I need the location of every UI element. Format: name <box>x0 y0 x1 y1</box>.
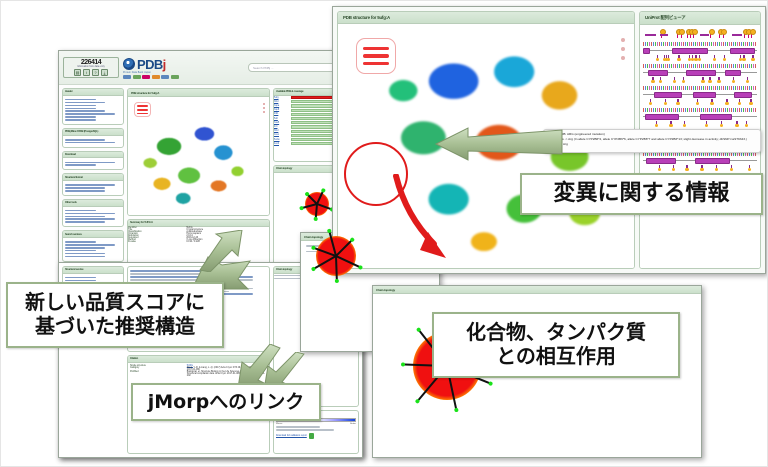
help-icon[interactable]: ? <box>92 69 99 76</box>
sidebar-section-title-download: Download <box>63 152 123 159</box>
sidebar-section-body-download <box>63 158 123 169</box>
seq-track-2[interactable] <box>643 64 757 82</box>
sequence-letters <box>643 108 757 112</box>
variant-ticks <box>643 121 757 126</box>
sidebar-item-search-pdbj[interactable] <box>65 244 115 246</box>
chip-red-icon <box>142 75 150 79</box>
entry-counter-caption: Information from data entry <box>67 66 115 68</box>
sidebar-item-yorodumi[interactable] <box>65 250 96 252</box>
interaction-hub-small <box>300 187 334 221</box>
structure-canvas[interactable] <box>128 97 269 215</box>
legend-note-2 <box>276 429 334 431</box>
main-window-topbar: 226414 Information from data entry ▤ i ?… <box>59 51 362 85</box>
variant-ticks <box>643 77 757 82</box>
sidebar-section-title: Header <box>63 89 123 96</box>
sidebar-section-title-search: Search services <box>63 231 123 238</box>
sidebar-section-format: Structural format <box>62 173 124 196</box>
domain-bar <box>643 158 757 164</box>
sidebar-item-links[interactable] <box>65 116 96 118</box>
coverage-id[interactable]: 3qu8 <box>274 109 289 111</box>
pdbj-seal-icon <box>123 58 135 70</box>
coverage-id[interactable]: 5ufg <box>274 97 289 99</box>
variant-ticks <box>643 55 757 60</box>
entry-counter: 226414 Information from data entry ▤ i ?… <box>63 57 119 78</box>
sidebar-section-title-other: Other tools <box>63 200 123 207</box>
more-vertical-icon[interactable] <box>621 38 625 60</box>
sidebar-item-top-page[interactable] <box>65 99 96 101</box>
chip-green-icon <box>133 75 141 79</box>
sidebar-item-mmcif-dict[interactable] <box>65 184 115 186</box>
variant-lollipop-row <box>643 28 757 38</box>
variant-tooltip: 12: PDB: ARG (engineered mutation) 28: L… <box>543 129 761 153</box>
sidebar-section-body-other <box>63 207 123 227</box>
domain-bar <box>643 114 757 120</box>
sidebar-item-mmcif-compat[interactable] <box>65 213 115 215</box>
score-label-better: Better <box>350 423 356 425</box>
chip-green-2-icon <box>171 75 179 79</box>
brand-subtitle: Protein Data Bank Japan <box>123 72 179 74</box>
domain-bar <box>643 70 757 76</box>
sidebar-item-emdb[interactable] <box>65 210 96 212</box>
big-structure-title: PDB structure for 5ufg:A <box>338 12 634 24</box>
sidebar-item-contact[interactable] <box>65 110 105 112</box>
sidebar-item-download-2[interactable] <box>65 164 96 166</box>
hamburger-menu-icon[interactable] <box>134 102 151 117</box>
hamburger-menu-icon[interactable] <box>356 38 396 74</box>
score-label-worse: Worse <box>276 423 282 425</box>
sidebar-item-component-archive[interactable] <box>65 218 115 220</box>
sidebar-section-title-mine: PDBj Mine 2 RDB (PostgreSQL) <box>63 129 123 136</box>
tooltip-text: 28: Lys -> Arg (In allele CYP2B6*4, alle… <box>554 138 747 142</box>
chip-orange-icon <box>152 75 160 79</box>
info-icon[interactable]: i <box>83 69 90 76</box>
protein-ribbon-render <box>136 111 254 215</box>
structure-viewer-panel: PDB structure for 5ufg:A <box>127 88 270 216</box>
sidebar-item-format-conversion[interactable] <box>65 187 105 189</box>
seq-track-4[interactable] <box>643 108 757 126</box>
callout-quality-text: 新しい品質スコアに基づいた推奨構造 <box>25 291 205 338</box>
interaction-hub-graphic-1 <box>308 228 364 284</box>
sidebar-item-faq[interactable] <box>65 108 96 110</box>
variant-ticks <box>643 99 757 104</box>
sidebar-item-keyword-search[interactable] <box>65 139 105 141</box>
more-vertical-icon[interactable] <box>263 103 265 113</box>
sidebar-item-statistics[interactable] <box>65 102 105 104</box>
red-arrow-annotation <box>390 174 460 264</box>
download-report-row[interactable]: Download full validation report <box>276 433 356 439</box>
callout-jmorp-link: jMorpへのリンク <box>131 383 321 421</box>
sidebar-section-other: Other tools <box>62 199 124 227</box>
sequence-letters <box>643 64 757 68</box>
citation-key: PubMed <box>130 371 185 377</box>
summary-key: R-value <box>128 241 184 243</box>
coverage-id[interactable]: 3ibd <box>274 101 289 103</box>
summary-panel-title: Summary for 5UFG:A <box>128 220 269 227</box>
seq-track-6[interactable] <box>643 152 757 170</box>
legend-note-1 <box>276 426 320 428</box>
uniprot-viewer-title: UniProt 配列ビューア <box>640 12 760 25</box>
chip-blue-2-icon <box>161 75 169 79</box>
download-report-label[interactable]: Download full validation report <box>276 435 307 437</box>
brand-suffix: j <box>163 57 166 72</box>
sidebar-item-em-navigator[interactable] <box>65 256 105 258</box>
sidebar-item-omokage[interactable] <box>65 253 105 255</box>
callout-jmorp-text: jMorpへのリンク <box>148 391 304 413</box>
callout-interaction-text: 化合物、タンパク質との相互作用 <box>466 321 646 368</box>
sidebar-item-latest-versions[interactable] <box>65 221 105 223</box>
entry-counter-value: 226414 <box>67 59 115 66</box>
sidebar-item-mmcif-tools[interactable] <box>65 190 105 192</box>
variant-ticks <box>643 165 757 170</box>
brand-name: PDB <box>137 57 163 72</box>
green-arrow-to-mutation-callout <box>432 120 564 166</box>
domain-bar <box>643 92 757 98</box>
callout-quality-score: 新しい品質スコアに基づいた推奨構造 <box>6 282 224 348</box>
sidebar-item-pdbj-3[interactable] <box>65 277 96 279</box>
chain-topology-large-title: Chain topology <box>373 286 701 294</box>
coverage-id[interactable]: 4i91 <box>274 113 289 115</box>
seq-track-overview[interactable] <box>643 28 757 38</box>
sidebar-section-header: Header <box>62 88 124 125</box>
sidebar-item-download-archive[interactable] <box>65 162 115 164</box>
pdbj-logo[interactable]: PDBj Protein Data Bank Japan <box>123 57 179 79</box>
download-icon[interactable] <box>309 433 314 439</box>
sequence-letters <box>643 42 757 46</box>
green-arrow-to-available-pdb <box>198 230 264 272</box>
slide-canvas: 226414 Information from data entry ▤ i ?… <box>0 0 768 467</box>
coverage-id[interactable]: 4rrt <box>274 126 289 128</box>
sidebar-section-search-services: Search services <box>62 230 124 261</box>
sidebar-item-settings[interactable] <box>65 119 96 121</box>
sidebar-section-title-structural-2: Structural service <box>63 267 123 274</box>
callout-interaction: 化合物、タンパク質との相互作用 <box>432 312 680 378</box>
callout-mutation-text: 変異に関する情報 <box>553 181 729 207</box>
sidebar-section-title-format: Structural format <box>63 174 123 181</box>
coverage-id[interactable]: 3ibd <box>274 130 289 132</box>
chip-blue-icon <box>123 75 131 79</box>
brand-chip-row <box>123 75 179 79</box>
sidebar-section-body-mine <box>63 136 123 147</box>
coverage-id[interactable]: 1suo <box>274 134 289 136</box>
sidebar-item-sequence-search[interactable] <box>65 142 115 144</box>
sidebar-item-structure-navigator[interactable] <box>65 247 105 249</box>
sidebar-item-policies[interactable] <box>65 113 115 115</box>
download-icon[interactable]: ⤓ <box>101 69 108 76</box>
sidebar-section-body <box>63 96 123 124</box>
sidebar-item-sequence[interactable] <box>65 241 96 243</box>
coverage-id[interactable]: 5uft <box>274 118 289 120</box>
structure-viewer-title: PDB structure for 5ufg:A <box>128 89 269 97</box>
callout-mutation-info: 変異に関する情報 <box>520 173 763 215</box>
sidebar-section-mine: PDBj Mine 2 RDB (PostgreSQL) <box>62 128 124 148</box>
sequence-letters <box>643 152 757 156</box>
sidebar-section-body-search <box>63 238 123 261</box>
coverage-id[interactable]: 3qoa <box>274 105 289 107</box>
counter-icon-row: ▤ i ? ⤓ <box>67 69 115 76</box>
score-gradient-labels: Worse Better <box>276 423 356 425</box>
sidebar-item-help[interactable] <box>65 105 96 107</box>
coverage-id[interactable]: 4xo6 <box>274 143 289 145</box>
sidebar-item-groups[interactable] <box>65 216 105 218</box>
tooltip-row: Lys -> Arg <box>548 143 756 147</box>
tooltip-row: 28: Lys -> Arg (In allele CYP2B6*4, alle… <box>548 138 756 142</box>
sequence-letters <box>643 86 757 90</box>
coverage-id[interactable]: 3ua5 <box>274 122 289 124</box>
coverage-id[interactable]: 5u4w <box>274 139 289 141</box>
domain-bar <box>643 48 757 54</box>
sidebar-section-download: Download <box>62 151 124 171</box>
seq-track-3[interactable] <box>643 86 757 104</box>
chart-icon[interactable]: ▤ <box>74 69 81 76</box>
sidebar-section-body-format <box>63 181 123 195</box>
seq-track-1[interactable] <box>643 42 757 60</box>
